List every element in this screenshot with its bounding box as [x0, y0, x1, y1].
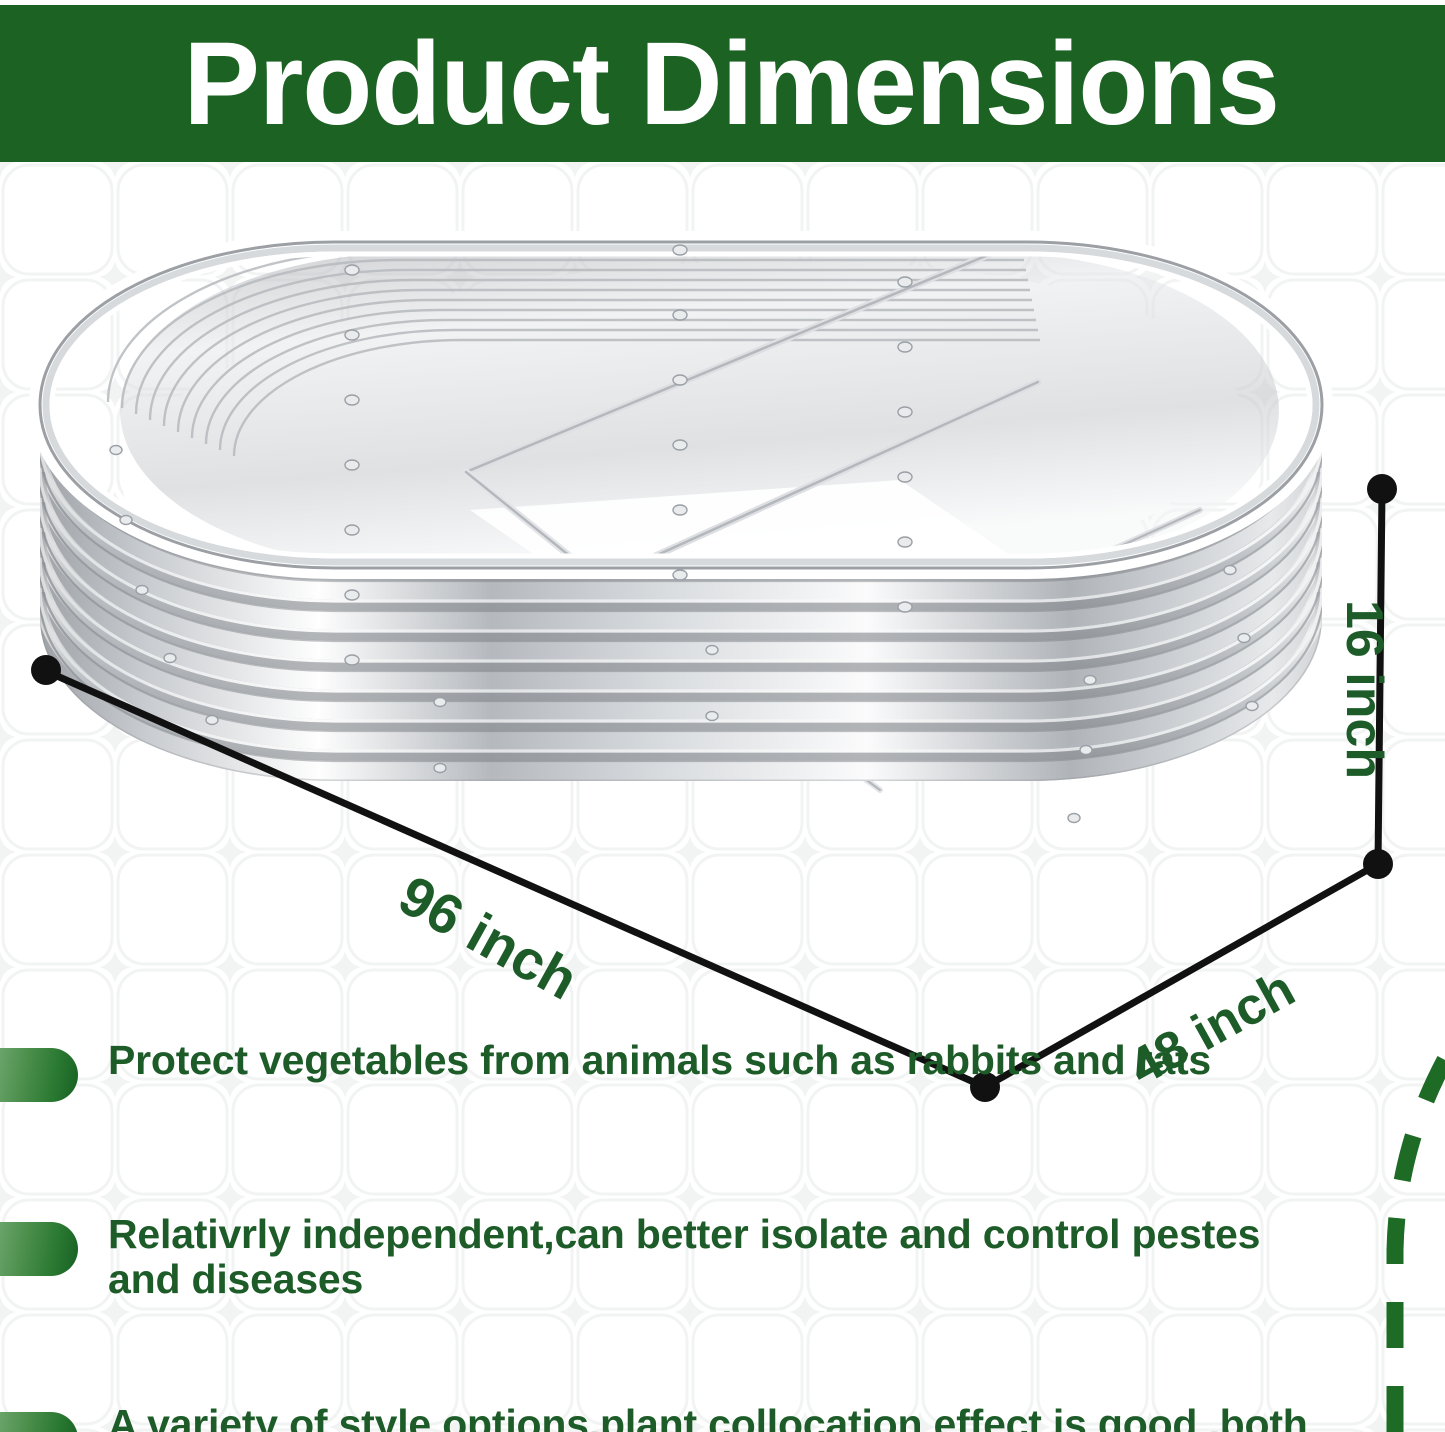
feature-text: A variety of style options,plant colloca…: [108, 1402, 1330, 1432]
page-title: Product Dimensions: [22, 25, 1424, 143]
feature-list: Protect vegetables from animals such as …: [0, 1030, 1330, 1432]
bullet-pill-icon: [0, 1048, 78, 1102]
decorative-dashed-arc: [1350, 1000, 1445, 1432]
list-item: Protect vegetables from animals such as …: [0, 1038, 1330, 1102]
list-item: Relativrly independent,can better isolat…: [0, 1212, 1330, 1302]
feature-text: Protect vegetables from animals such as …: [108, 1038, 1211, 1083]
product-illustration-oval-garden-bed: [0, 150, 1445, 1100]
infographic-page: Product Dimensions: [0, 0, 1445, 1432]
header-banner: Product Dimensions: [0, 5, 1445, 162]
list-item: A variety of style options,plant colloca…: [0, 1402, 1330, 1432]
dimension-label-height: 16 inch: [1334, 600, 1394, 779]
bullet-pill-icon: [0, 1412, 78, 1432]
feature-text: Relativrly independent,can better isolat…: [108, 1212, 1330, 1302]
bullet-pill-icon: [0, 1222, 78, 1276]
